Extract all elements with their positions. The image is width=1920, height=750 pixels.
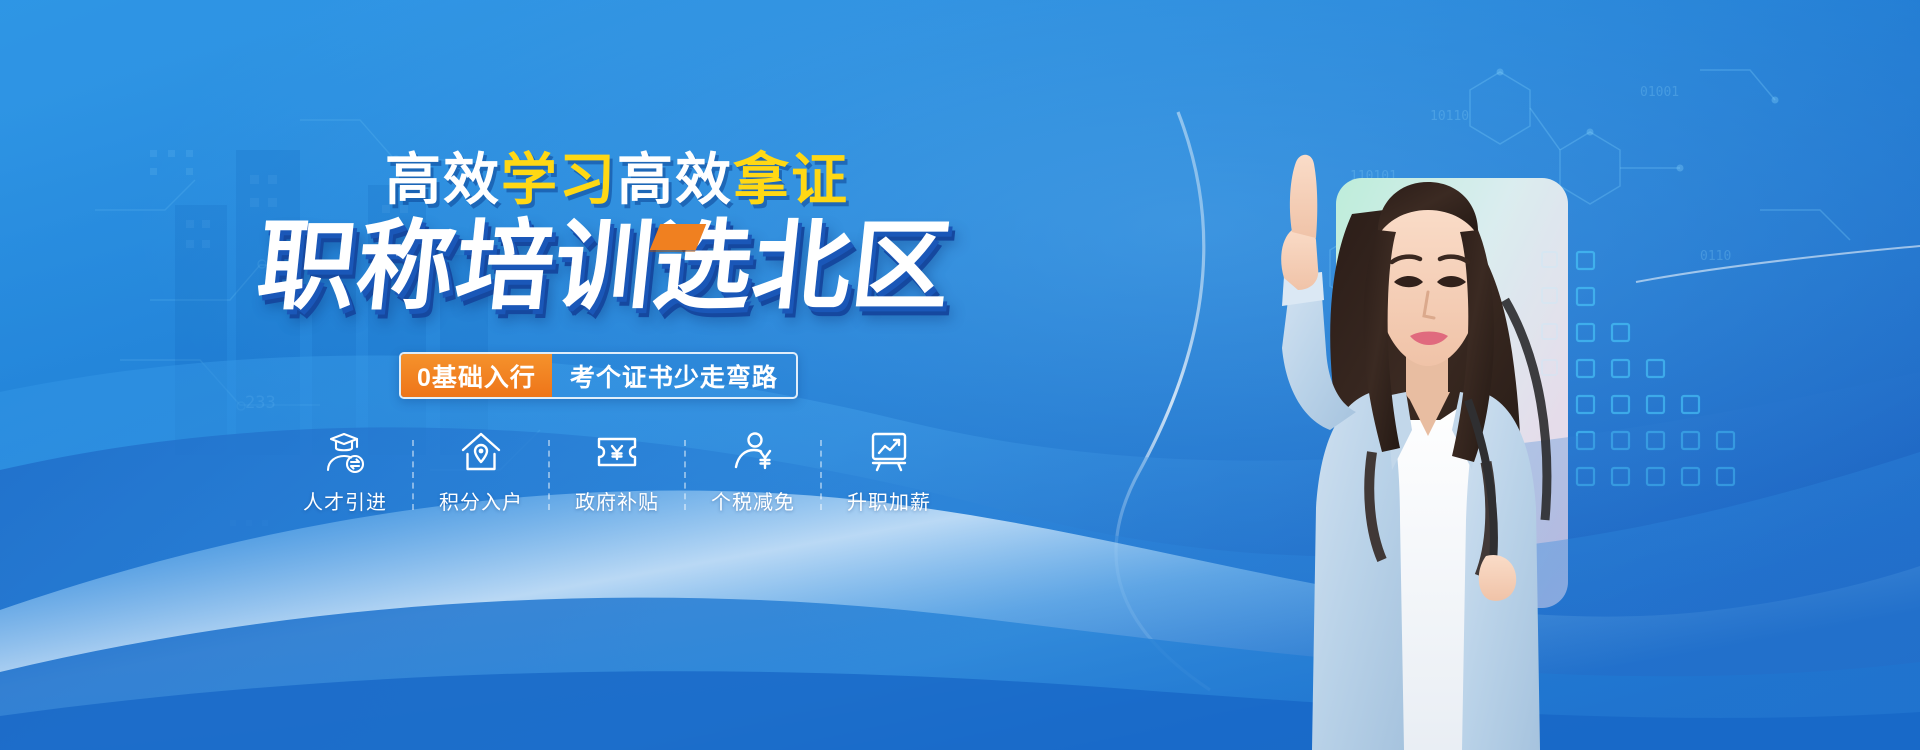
person-yuan-icon (732, 430, 774, 474)
sub-headline-seg-3: 拿证 (733, 148, 849, 211)
copy-block: 高效学习高效拿证 职称培训选北区 0基础入行 考个证书少走弯路 (0, 0, 1120, 750)
sub-headline-seg-0: 高效 (385, 148, 501, 211)
tagline-badge: 0基础入行 考个证书少走弯路 (399, 352, 798, 399)
badge-right-label: 考个证书少走弯路 (552, 354, 796, 397)
badge-left-label: 0基础入行 (401, 354, 552, 397)
feature-list: 人才引进 积分入户 (278, 430, 956, 515)
main-headline: 职称培训选北区 (253, 218, 956, 316)
feature-label-3: 个税减免 (711, 486, 795, 515)
feature-item-2[interactable]: 政府补贴 (550, 430, 684, 515)
svg-text:10110: 10110 (1430, 109, 1469, 124)
sub-headline-seg-1: 学习 (501, 148, 617, 211)
feature-label-2: 政府补贴 (575, 486, 659, 515)
growth-chart-easel-icon (868, 430, 910, 474)
feature-item-3[interactable]: 个税减免 (686, 430, 820, 515)
house-location-pin-icon (459, 430, 503, 474)
feature-label-0: 人才引进 (303, 486, 387, 515)
voucher-yuan-icon (595, 430, 639, 474)
svg-text:110101: 110101 (1350, 169, 1397, 184)
graduate-person-icon (324, 430, 366, 474)
sub-headline: 高效学习高效拿证 (385, 152, 849, 208)
feature-item-0[interactable]: 人才引进 (278, 430, 412, 515)
promo-banner: 233 10110 (0, 0, 1920, 750)
feature-item-4[interactable]: 升职加薪 (822, 430, 956, 515)
feature-label-1: 积分入户 (439, 486, 523, 515)
feature-item-1[interactable]: 积分入户 (414, 430, 548, 515)
svg-text:0110: 0110 (1700, 249, 1731, 264)
sub-headline-seg-2: 高效 (617, 148, 733, 211)
feature-label-4: 升职加薪 (847, 486, 931, 515)
svg-text:01001: 01001 (1640, 85, 1679, 100)
